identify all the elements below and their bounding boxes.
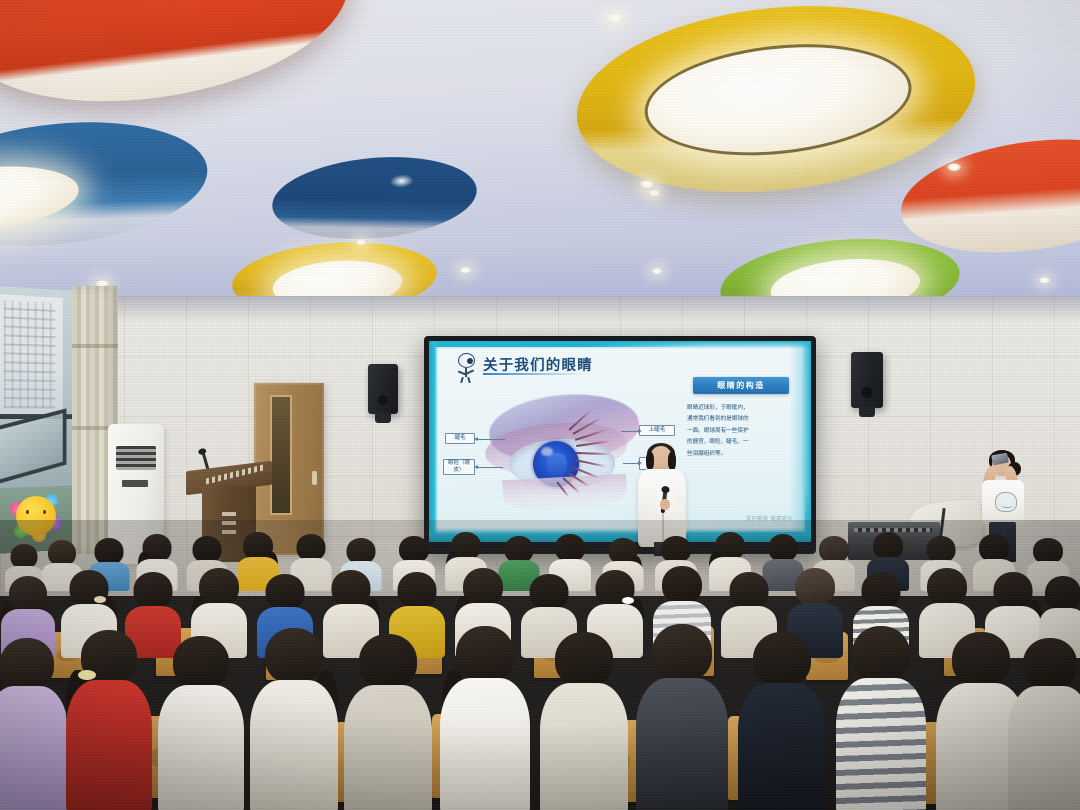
audience-child-front — [738, 632, 826, 810]
door-handle[interactable] — [312, 471, 317, 485]
presenter-hair-side — [646, 452, 654, 470]
spotlight — [651, 268, 663, 275]
slide-top-accent — [429, 341, 811, 349]
mascot-leg — [460, 377, 464, 383]
disc-rim — [0, 0, 361, 126]
child-head — [555, 632, 613, 687]
slide-section-badge: 眼睛的构造 — [693, 377, 789, 394]
child-head — [1023, 638, 1077, 690]
spotlight — [459, 267, 472, 274]
child-body — [0, 686, 68, 810]
speaker-mount — [859, 407, 875, 417]
spotlight — [355, 239, 367, 246]
child-body — [250, 680, 338, 810]
seated-schoolchildren — [0, 520, 1080, 810]
child-head — [979, 534, 1009, 562]
child-head — [95, 538, 124, 565]
audience-child-front — [1008, 638, 1080, 810]
slide-left-accent — [429, 341, 438, 542]
child-head — [661, 536, 691, 563]
label-eyelash-left: 睫毛 — [445, 433, 475, 444]
mascot-leg — [467, 377, 471, 383]
city-skyline-view — [0, 294, 63, 414]
child-head — [297, 534, 326, 561]
leader-line — [621, 431, 639, 432]
child-head — [662, 566, 702, 604]
slide-body-line: 的器官，眼睑、睫毛、一 — [687, 437, 795, 448]
child-head — [359, 634, 417, 689]
child-head — [927, 568, 967, 606]
child-head — [769, 534, 798, 562]
child-head — [873, 532, 903, 560]
ceiling-disc-red — [0, 0, 361, 126]
child-head — [1045, 576, 1080, 611]
child-head — [0, 638, 54, 690]
child-head — [994, 572, 1033, 609]
curtain-tie — [72, 344, 118, 348]
child-head — [265, 628, 323, 684]
left-wall-speaker — [368, 364, 398, 414]
eye-mascot-icon — [454, 353, 480, 383]
hair-tie — [94, 596, 106, 603]
slide-body-line: 通常我们看到的是眼球的 — [687, 414, 795, 425]
child-head — [819, 536, 849, 563]
window-open-sash[interactable] — [0, 408, 66, 486]
spotlight — [639, 180, 655, 189]
audience-child-front — [250, 628, 338, 810]
mascot-arm — [466, 369, 474, 374]
iris-highlight — [541, 447, 553, 456]
audience-child-front — [158, 636, 244, 810]
leader-line — [477, 439, 505, 440]
child-head — [9, 576, 47, 612]
leader-line — [477, 467, 503, 468]
pupil — [547, 453, 567, 475]
child-head — [399, 536, 429, 563]
child-head — [266, 574, 305, 610]
child-body — [344, 685, 432, 810]
door-glass-panel — [270, 395, 292, 515]
child-body — [66, 680, 152, 810]
slide-body-text: 眼睛近球形，于眼眶内， 通常我们看到的是眼球的 一面。眼球周有一些保护 的器官，… — [687, 403, 795, 460]
child-head — [795, 568, 835, 606]
child-head — [730, 572, 769, 609]
balloon-eye — [43, 510, 46, 514]
child-head — [555, 534, 585, 562]
slide-title-underline — [483, 373, 587, 375]
child-head — [652, 624, 712, 682]
audience-child-front — [636, 624, 728, 810]
mascot-pupil — [467, 358, 473, 364]
audience-child-front — [540, 632, 628, 810]
eye-anatomy-illustration — [475, 393, 651, 513]
ceiling-disc-blue-left — [0, 109, 213, 260]
right-wall-speaker — [851, 352, 883, 408]
slide-body-line: 一面。眼球周有一些保护 — [687, 426, 795, 437]
hair-tie — [622, 597, 634, 604]
spotlight — [1038, 277, 1051, 284]
child-body — [540, 683, 628, 810]
balloon-eye — [26, 510, 29, 514]
slide-section-badge-label: 眼睛的构造 — [717, 380, 765, 391]
speaker-mount — [375, 413, 391, 423]
child-head — [505, 536, 534, 563]
child-head — [134, 572, 173, 609]
mascot-eyeball — [458, 353, 475, 368]
audience-child-front — [836, 626, 926, 810]
audience-child-front — [66, 630, 152, 810]
child-head — [927, 536, 956, 563]
child-body — [738, 683, 826, 810]
child-head — [193, 536, 222, 563]
child-head — [530, 574, 569, 610]
audience-child-front — [344, 634, 432, 810]
spotlight — [648, 190, 661, 197]
child-body — [440, 678, 530, 810]
hair-tie — [78, 670, 96, 680]
photographer-tshirt — [982, 480, 1024, 524]
ceiling — [0, 0, 1080, 340]
ac-vent-grille — [116, 446, 156, 470]
child-body — [636, 678, 728, 810]
auditorium-photo: 关于我们的眼睛 眼睛的构造 — [0, 0, 1080, 810]
disc-rim — [269, 149, 480, 247]
child-striped-shirt — [836, 678, 926, 810]
ceiling-disc-navy-center — [269, 149, 480, 247]
audience-child-front — [0, 638, 68, 810]
tshirt-graphic-print — [995, 492, 1017, 512]
child-head — [952, 632, 1010, 687]
spotlight — [946, 163, 962, 172]
child-head — [456, 626, 514, 682]
slide-body-line: 些泪腺组织等。 — [687, 449, 795, 460]
child-head — [173, 636, 229, 689]
child-head — [398, 572, 437, 609]
slide-title: 关于我们的眼睛 — [483, 354, 593, 375]
presenter-hair-side — [668, 452, 676, 470]
label-eyelid-left: 眼睑（眼皮） — [443, 459, 475, 475]
spotlight — [605, 13, 624, 24]
lectern-engraved-text — [206, 464, 266, 485]
child-head — [852, 626, 910, 682]
child-head — [862, 572, 901, 609]
screen-surface: 关于我们的眼睛 眼睛的构造 — [429, 341, 811, 542]
label-upper-eyelash-right: 上睫毛 — [639, 425, 675, 436]
balloon-face — [26, 510, 46, 519]
ac-control-panel[interactable] — [122, 480, 148, 487]
audience-child-front — [440, 626, 530, 810]
presenter-hand — [660, 499, 670, 510]
wall-top-shadow — [0, 296, 1080, 322]
child-body — [158, 685, 244, 810]
child-head — [332, 570, 371, 607]
child-head — [753, 632, 811, 687]
slide-body-line: 眼睛近球形，于眼眶内， — [687, 403, 795, 414]
child-body — [1008, 686, 1080, 810]
